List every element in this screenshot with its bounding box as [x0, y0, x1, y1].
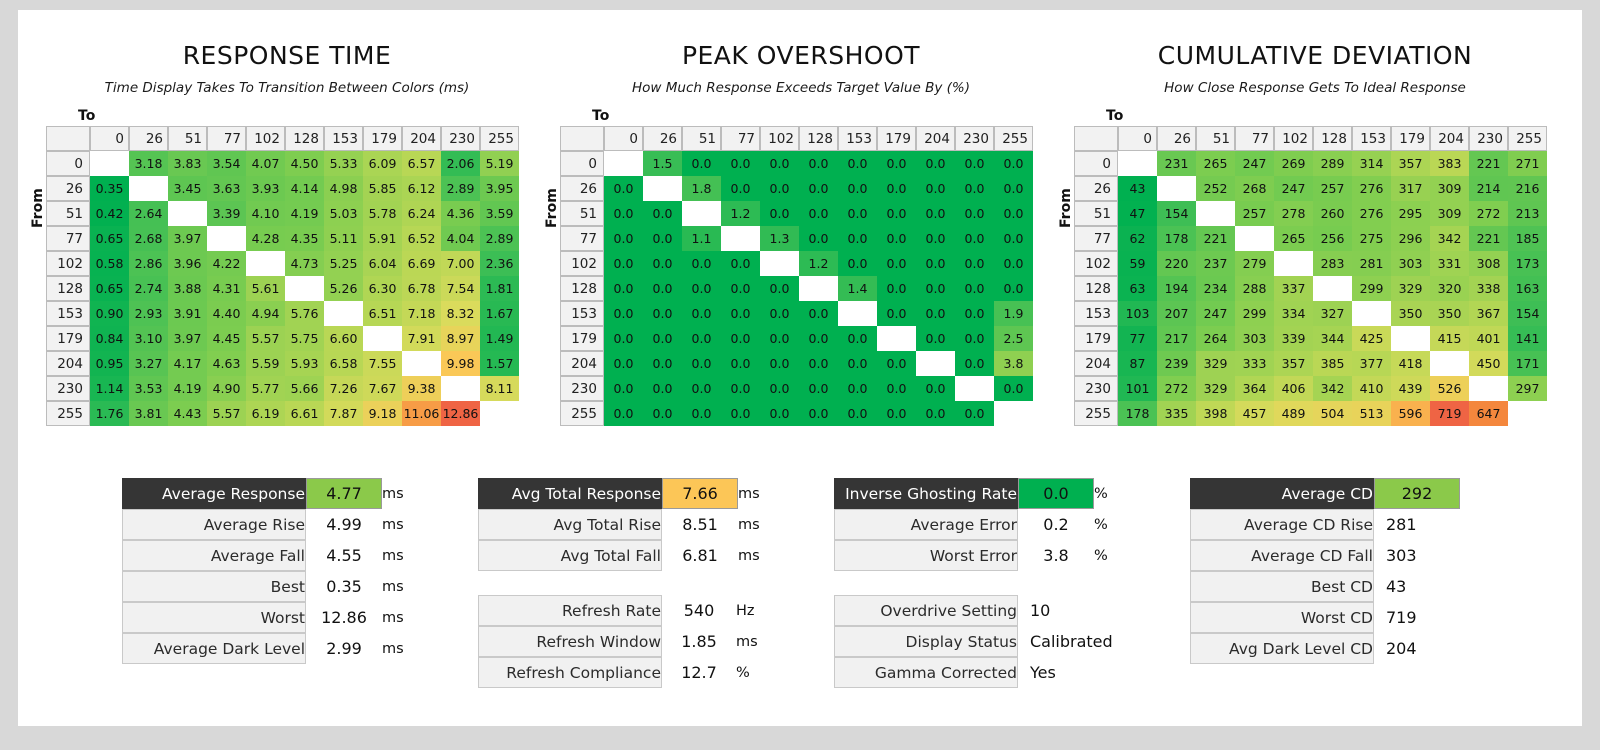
matrix-col-header: 102 — [760, 126, 799, 151]
matrix-cell: 0.0 — [721, 251, 760, 276]
matrix-cell: 0.0 — [643, 251, 682, 276]
stat-unit: ms — [382, 571, 412, 602]
stat-label: Display Status — [834, 626, 1018, 657]
stats-table-refresh: Refresh Rate540HzRefresh Window1.85msRef… — [478, 595, 766, 688]
matrix-cell: 296 — [1391, 226, 1430, 251]
matrix-col-header: 102 — [1274, 126, 1313, 151]
stat-row: Refresh Compliance12.7% — [478, 657, 766, 688]
stat-row: Worst12.86ms — [122, 602, 412, 633]
matrix-col-header: 204 — [1430, 126, 1469, 151]
matrix-cell: 4.36 — [441, 201, 480, 226]
matrix-cell: 264 — [1196, 326, 1235, 351]
matrix-row-header: 26 — [46, 176, 90, 201]
matrix-row: 20487239329333357385377418450171 — [1074, 351, 1547, 376]
matrix-diagonal-cell — [1469, 376, 1508, 401]
matrix-cell: 335 — [1157, 401, 1196, 426]
matrix-cell: 257 — [1235, 201, 1274, 226]
matrix-cell: 309 — [1430, 201, 1469, 226]
matrix-cell: 398 — [1196, 401, 1235, 426]
matrix-row: 770.652.683.974.284.355.115.916.524.042.… — [46, 226, 519, 251]
stat-unit — [1113, 657, 1143, 688]
matrix-cell: 171 — [1508, 351, 1547, 376]
matrix-cell: 5.75 — [285, 326, 324, 351]
stat-unit: ms — [382, 602, 412, 633]
stat-label: Worst CD — [1190, 602, 1374, 633]
matrix-cell: 1.4 — [838, 276, 877, 301]
matrix-diagonal-cell — [1235, 226, 1274, 251]
matrix-col-header: 26 — [129, 126, 168, 151]
matrix-cell: 0.0 — [994, 176, 1033, 201]
matrix-cell: 5.85 — [363, 176, 402, 201]
matrix-cell: 256 — [1313, 226, 1352, 251]
matrix-cell: 333 — [1235, 351, 1274, 376]
matrix-row: 260.353.453.633.934.144.985.856.122.893.… — [46, 176, 519, 201]
matrix-header-row: 0265177102128153179204230255 — [560, 126, 1033, 151]
matrix-cell: 2.93 — [129, 301, 168, 326]
matrix-cell: 221 — [1196, 226, 1235, 251]
matrix-diagonal-cell — [1118, 151, 1157, 176]
matrix-cell: 647 — [1469, 401, 1508, 426]
matrix-cell: 0.0 — [994, 151, 1033, 176]
matrix-cell: 216 — [1508, 176, 1547, 201]
matrix-cell: 154 — [1508, 301, 1547, 326]
matrix-cell: 0.0 — [682, 326, 721, 351]
matrix-diagonal-cell — [643, 176, 682, 201]
matrix-cell: 5.57 — [246, 326, 285, 351]
matrix-cell: 314 — [1352, 151, 1391, 176]
matrix-cell: 185 — [1508, 226, 1547, 251]
stat-value: 281 — [1374, 509, 1460, 540]
matrix-row-header: 0 — [46, 151, 90, 176]
matrix-cell: 5.19 — [480, 151, 519, 176]
stats-total-response: Avg Total Response7.66msAvg Total Rise8.… — [478, 478, 768, 571]
matrix-cell: 5.26 — [324, 276, 363, 301]
matrix-cell: 0.0 — [994, 376, 1033, 401]
matrix-cell: 1.3 — [760, 226, 799, 251]
matrix-cell: 234 — [1196, 276, 1235, 301]
matrix-cell: 1.9 — [994, 301, 1033, 326]
matrix-row: 1790.843.103.974.455.575.756.607.918.971… — [46, 326, 519, 351]
matrix-cell: 8.11 — [480, 376, 519, 401]
matrix-diagonal-cell — [168, 201, 207, 226]
stat-unit — [1460, 478, 1490, 509]
matrix-cell: 2.89 — [441, 176, 480, 201]
matrix-cell: 0.0 — [682, 276, 721, 301]
matrix-cell: 4.28 — [246, 226, 285, 251]
matrix-row: 17977217264303339344425415401141 — [1074, 326, 1547, 351]
panel-subtitle: How Close Response Gets To Ideal Respons… — [1060, 80, 1570, 96]
stat-label: Average Response — [122, 478, 306, 509]
matrix-cell: 0.0 — [760, 276, 799, 301]
matrix-cell: 3.96 — [168, 251, 207, 276]
matrix-cell: 0.84 — [90, 326, 129, 351]
stat-row: Avg Total Rise8.51ms — [478, 509, 768, 540]
stat-row: Average Rise4.99ms — [122, 509, 412, 540]
stat-label: Average CD Rise — [1190, 509, 1374, 540]
matrix-cell: 526 — [1430, 376, 1469, 401]
matrix-cell: 275 — [1352, 226, 1391, 251]
matrix-cell: 279 — [1235, 251, 1274, 276]
matrix-row-header: 77 — [560, 226, 604, 251]
stat-unit: % — [1094, 509, 1124, 540]
matrix-cell: 0.0 — [877, 301, 916, 326]
matrix-diagonal-cell — [363, 326, 402, 351]
matrix-row-header: 102 — [46, 251, 90, 276]
matrix-cell: 265 — [1196, 151, 1235, 176]
stats-response: Average Response4.77msAverage Rise4.99ms… — [122, 478, 412, 664]
matrix-cell: 0.0 — [760, 301, 799, 326]
matrix-cell: 0.0 — [916, 376, 955, 401]
matrix-cell: 0.0 — [760, 151, 799, 176]
matrix-cell: 0.0 — [799, 326, 838, 351]
matrix-cell: 0.0 — [799, 351, 838, 376]
matrix-cell: 221 — [1469, 151, 1508, 176]
matrix-cell: 272 — [1157, 376, 1196, 401]
matrix-cell: 0.0 — [916, 276, 955, 301]
matrix-cell: 0.0 — [643, 401, 682, 426]
matrix-cell: 1.5 — [643, 151, 682, 176]
matrix-diagonal-cell — [1430, 351, 1469, 376]
matrix-row-header: 102 — [560, 251, 604, 276]
stat-value: Yes — [1018, 657, 1113, 688]
matrix-cell: 2.06 — [441, 151, 480, 176]
stat-unit: % — [1094, 540, 1124, 571]
matrix-cell: 7.54 — [441, 276, 480, 301]
stat-label: Best — [122, 571, 306, 602]
matrix-cell: 278 — [1274, 201, 1313, 226]
matrix-row-header: 51 — [46, 201, 90, 226]
matrix-cell: 1.2 — [799, 251, 838, 276]
matrix-row-header: 26 — [1074, 176, 1118, 201]
matrix-cell: 4.98 — [324, 176, 363, 201]
matrix-cell: 6.60 — [324, 326, 363, 351]
summary-statistics: Average Response4.77msAverage Rise4.99ms… — [18, 430, 1582, 720]
matrix-cell: 0.0 — [799, 401, 838, 426]
stat-value: 4.77 — [306, 478, 382, 509]
matrix-cell: 3.63 — [207, 176, 246, 201]
matrix-cell: 0.0 — [643, 301, 682, 326]
matrix-diagonal-cell — [1274, 251, 1313, 276]
stat-unit: ms — [382, 509, 412, 540]
matrix-cell: 0.0 — [877, 351, 916, 376]
matrix-row-header: 230 — [560, 376, 604, 401]
matrix-cell: 0.0 — [721, 151, 760, 176]
matrix-cell: 11.06 — [402, 401, 441, 426]
matrix-cell: 9.98 — [441, 351, 480, 376]
matrix-row: 2643252268247257276317309214216 — [1074, 176, 1547, 201]
matrix-cell: 5.77 — [246, 376, 285, 401]
matrix-cell: 0.0 — [877, 276, 916, 301]
matrix-cell: 5.57 — [207, 401, 246, 426]
matrix-cell: 0.0 — [955, 326, 994, 351]
stat-value: 204 — [1374, 633, 1460, 664]
matrix-cell: 4.73 — [285, 251, 324, 276]
matrix-cell: 0.0 — [604, 176, 643, 201]
matrix-cell: 0.0 — [721, 276, 760, 301]
stat-row: Overdrive Setting10 — [834, 595, 1143, 626]
matrix-cell: 272 — [1469, 201, 1508, 226]
matrix-row-header: 179 — [1074, 326, 1118, 351]
stat-row: Best CD43 — [1190, 571, 1490, 602]
matrix-cell: 221 — [1469, 226, 1508, 251]
matrix-row: 1790.00.00.00.00.00.00.00.00.02.5 — [560, 326, 1033, 351]
axis-label-from: From — [544, 188, 560, 228]
matrix-diagonal-cell — [324, 301, 363, 326]
stat-row: Worst Error3.8% — [834, 540, 1124, 571]
matrix-cell: 0.0 — [916, 226, 955, 251]
matrix-cell: 3.39 — [207, 201, 246, 226]
matrix-cell: 450 — [1469, 351, 1508, 376]
matrix-cell: 0.0 — [799, 176, 838, 201]
matrix-cell: 0.0 — [721, 326, 760, 351]
matrix-cell: 7.26 — [324, 376, 363, 401]
matrix-col-header: 0 — [90, 126, 129, 151]
matrix-row: 01.50.00.00.00.00.00.00.00.00.0 — [560, 151, 1033, 176]
matrix-diagonal-cell — [90, 151, 129, 176]
matrix-cell: 5.03 — [324, 201, 363, 226]
cumulative-deviation-matrix: 0265177102128153179204230255023126524726… — [1074, 126, 1547, 426]
matrix-diagonal-cell — [916, 351, 955, 376]
stat-value: 4.99 — [306, 509, 382, 540]
matrix-row-header: 204 — [1074, 351, 1118, 376]
matrix-diagonal-cell — [721, 226, 760, 251]
matrix-cell: 265 — [1274, 226, 1313, 251]
matrix-row: 2300.00.00.00.00.00.00.00.00.00.0 — [560, 376, 1033, 401]
matrix-cell: 4.22 — [207, 251, 246, 276]
matrix-cell: 0.0 — [721, 301, 760, 326]
matrix-cell: 4.31 — [207, 276, 246, 301]
matrix-row-header: 255 — [560, 401, 604, 426]
matrix-cell: 297 — [1508, 376, 1547, 401]
matrix-cell: 0.58 — [90, 251, 129, 276]
matrix-cell: 0.0 — [760, 326, 799, 351]
matrix-diagonal-cell — [838, 301, 877, 326]
axis-label-to: To — [1106, 108, 1123, 124]
matrix-row: 2301.143.534.194.905.775.667.267.679.388… — [46, 376, 519, 401]
matrix-cell: 0.0 — [760, 351, 799, 376]
matrix-cell: 3.10 — [129, 326, 168, 351]
matrix-cell: 4.17 — [168, 351, 207, 376]
matrix-cell: 2.86 — [129, 251, 168, 276]
stat-unit — [1113, 626, 1143, 657]
matrix-cell: 6.69 — [402, 251, 441, 276]
matrix-cell: 0.0 — [838, 376, 877, 401]
stat-row: Average Response4.77ms — [122, 478, 412, 509]
matrix-cell: 7.18 — [402, 301, 441, 326]
matrix-cell: 3.45 — [168, 176, 207, 201]
matrix-cell: 0.0 — [604, 326, 643, 351]
matrix-cell: 1.57 — [480, 351, 519, 376]
matrix-row: 2040.00.00.00.00.00.00.00.00.03.8 — [560, 351, 1033, 376]
matrix-cell: 0.0 — [916, 251, 955, 276]
matrix-cell: 344 — [1313, 326, 1352, 351]
stat-label: Average CD Fall — [1190, 540, 1374, 571]
matrix-cell: 4.19 — [168, 376, 207, 401]
matrix-cell: 77 — [1118, 326, 1157, 351]
matrix-cell: 283 — [1313, 251, 1352, 276]
stat-label: Average Error — [834, 509, 1018, 540]
stat-value: 7.66 — [662, 478, 738, 509]
matrix-cell: 504 — [1313, 401, 1352, 426]
matrix-cell: 415 — [1430, 326, 1469, 351]
matrix-row: 10259220237279283281303331308173 — [1074, 251, 1547, 276]
stat-row: Average CD Rise281 — [1190, 509, 1490, 540]
matrix-cell: 0.0 — [838, 201, 877, 226]
stat-label: Refresh Compliance — [478, 657, 662, 688]
matrix-cell: 141 — [1508, 326, 1547, 351]
stat-value: 8.51 — [662, 509, 738, 540]
matrix-cell: 276 — [1352, 176, 1391, 201]
matrix-diagonal-cell — [480, 401, 519, 426]
stat-label: Average CD — [1190, 478, 1374, 509]
stat-value: 6.81 — [662, 540, 738, 571]
matrix-cell: 6.09 — [363, 151, 402, 176]
matrix-diagonal-cell — [682, 201, 721, 226]
stat-value: 3.8 — [1018, 540, 1094, 571]
matrix-cell: 357 — [1274, 351, 1313, 376]
matrix-col-header: 51 — [1196, 126, 1235, 151]
matrix-cell: 0.0 — [877, 251, 916, 276]
matrix-cell: 0.0 — [955, 276, 994, 301]
matrix-row-header: 153 — [1074, 301, 1118, 326]
matrix-row: 2551.763.814.435.576.196.617.879.1811.06… — [46, 401, 519, 426]
matrix-row: 1020.00.00.00.01.20.00.00.00.00.0 — [560, 251, 1033, 276]
matrix-col-header: 204 — [402, 126, 441, 151]
matrix-cell: 4.04 — [441, 226, 480, 251]
matrix-row-header: 77 — [1074, 226, 1118, 251]
stat-row: Refresh Window1.85ms — [478, 626, 766, 657]
matrix-cell: 6.19 — [246, 401, 285, 426]
stat-row: Inverse Ghosting Rate0.0% — [834, 478, 1124, 509]
matrix-diagonal-cell — [604, 151, 643, 176]
matrix-cell: 342 — [1313, 376, 1352, 401]
panel-subtitle: How Much Response Exceeds Target Value B… — [546, 80, 1056, 96]
matrix-cell: 342 — [1430, 226, 1469, 251]
stat-value: 43 — [1374, 571, 1460, 602]
matrix-cell: 406 — [1274, 376, 1313, 401]
matrix-row-header: 230 — [46, 376, 90, 401]
stat-label: Avg Total Fall — [478, 540, 662, 571]
matrix-col-header: 77 — [207, 126, 246, 151]
matrix-cell: 0.0 — [838, 351, 877, 376]
stat-unit — [1460, 540, 1490, 571]
stat-value: 292 — [1374, 478, 1460, 509]
matrix-cell: 350 — [1430, 301, 1469, 326]
matrix-cell: 0.0 — [916, 301, 955, 326]
matrix-cell: 289 — [1313, 151, 1352, 176]
matrix-cell: 4.94 — [246, 301, 285, 326]
stat-value: 12.86 — [306, 602, 382, 633]
matrix-cell: 339 — [1274, 326, 1313, 351]
matrix-cell: 0.0 — [838, 226, 877, 251]
matrix-cell: 0.0 — [877, 401, 916, 426]
matrix-cell: 0.0 — [643, 226, 682, 251]
matrix-cell: 4.07 — [246, 151, 285, 176]
matrix-cell: 0.0 — [877, 376, 916, 401]
stat-label: Average Fall — [122, 540, 306, 571]
stat-value: 0.0 — [1018, 478, 1094, 509]
matrix-cell: 513 — [1352, 401, 1391, 426]
matrix-cell: 3.53 — [129, 376, 168, 401]
matrix-cell: 327 — [1313, 301, 1352, 326]
matrix-cell: 0.0 — [682, 251, 721, 276]
matrix-cell: 6.61 — [285, 401, 324, 426]
matrix-col-header: 51 — [168, 126, 207, 151]
matrix-corner-cell — [46, 126, 90, 151]
matrix-cell: 385 — [1313, 351, 1352, 376]
matrix-cell: 5.61 — [246, 276, 285, 301]
matrix-diagonal-cell — [129, 176, 168, 201]
matrix-cell: 2.89 — [480, 226, 519, 251]
matrix-cell: 2.36 — [480, 251, 519, 276]
panel-title: CUMULATIVE DEVIATION — [1060, 41, 1570, 70]
matrix-col-header: 179 — [363, 126, 402, 151]
matrix-cell: 7.87 — [324, 401, 363, 426]
matrix-cell: 1.67 — [480, 301, 519, 326]
matrix-col-header: 153 — [324, 126, 363, 151]
stat-unit — [1113, 595, 1143, 626]
matrix-cell: 0.0 — [604, 351, 643, 376]
matrix-cell: 0.0 — [604, 226, 643, 251]
matrix-row: 12863194234288337299329320338163 — [1074, 276, 1547, 301]
matrix-row: 2550.00.00.00.00.00.00.00.00.00.0 — [560, 401, 1033, 426]
matrix-cell: 338 — [1469, 276, 1508, 301]
matrix-col-header: 179 — [877, 126, 916, 151]
matrix-cell: 0.0 — [682, 376, 721, 401]
matrix-cell: 237 — [1196, 251, 1235, 276]
matrix-cell: 101 — [1118, 376, 1157, 401]
stat-value: 303 — [1374, 540, 1460, 571]
stat-label: Worst Error — [834, 540, 1018, 571]
matrix-row: 03.183.833.544.074.505.336.096.572.065.1… — [46, 151, 519, 176]
stats-refresh: Refresh Rate540HzRefresh Window1.85msRef… — [478, 595, 766, 688]
matrix-cell: 6.04 — [363, 251, 402, 276]
matrix-cell: 2.5 — [994, 326, 1033, 351]
stat-value: 719 — [1374, 602, 1460, 633]
matrix-diagonal-cell — [799, 276, 838, 301]
panel-peak-overshoot: PEAK OVERSHOOT How Much Response Exceeds… — [546, 10, 1056, 428]
matrix-cell: 3.54 — [207, 151, 246, 176]
matrix-cell: 276 — [1352, 201, 1391, 226]
stat-value: 10 — [1018, 595, 1113, 626]
matrix-cell: 0.0 — [994, 251, 1033, 276]
matrix-cell: 4.40 — [207, 301, 246, 326]
matrix-row: 255178335398457489504513596719647 — [1074, 401, 1547, 426]
matrix-cell: 3.91 — [168, 301, 207, 326]
matrix-cell: 213 — [1508, 201, 1547, 226]
matrix-cell: 0.0 — [955, 351, 994, 376]
matrix-cell: 194 — [1157, 276, 1196, 301]
axis-label-from: From — [1058, 188, 1074, 228]
matrix-cell: 0.0 — [994, 201, 1033, 226]
matrix-diagonal-cell — [441, 376, 480, 401]
matrix-cell: 337 — [1274, 276, 1313, 301]
stats-table-display: Overdrive Setting10Display StatusCalibra… — [834, 595, 1143, 688]
matrix-cell: 457 — [1235, 401, 1274, 426]
matrix-cell: 103 — [1118, 301, 1157, 326]
matrix-row-header: 204 — [46, 351, 90, 376]
matrix-cell: 87 — [1118, 351, 1157, 376]
matrix-row-header: 128 — [560, 276, 604, 301]
matrix-cell: 1.14 — [90, 376, 129, 401]
matrix-cell: 7.91 — [402, 326, 441, 351]
matrix-cell: 2.74 — [129, 276, 168, 301]
stat-unit: % — [736, 657, 766, 688]
matrix-cell: 0.0 — [721, 176, 760, 201]
matrix-diagonal-cell — [994, 401, 1033, 426]
stat-row: Average Dark Level2.99ms — [122, 633, 412, 664]
matrix-cell: 0.0 — [760, 176, 799, 201]
